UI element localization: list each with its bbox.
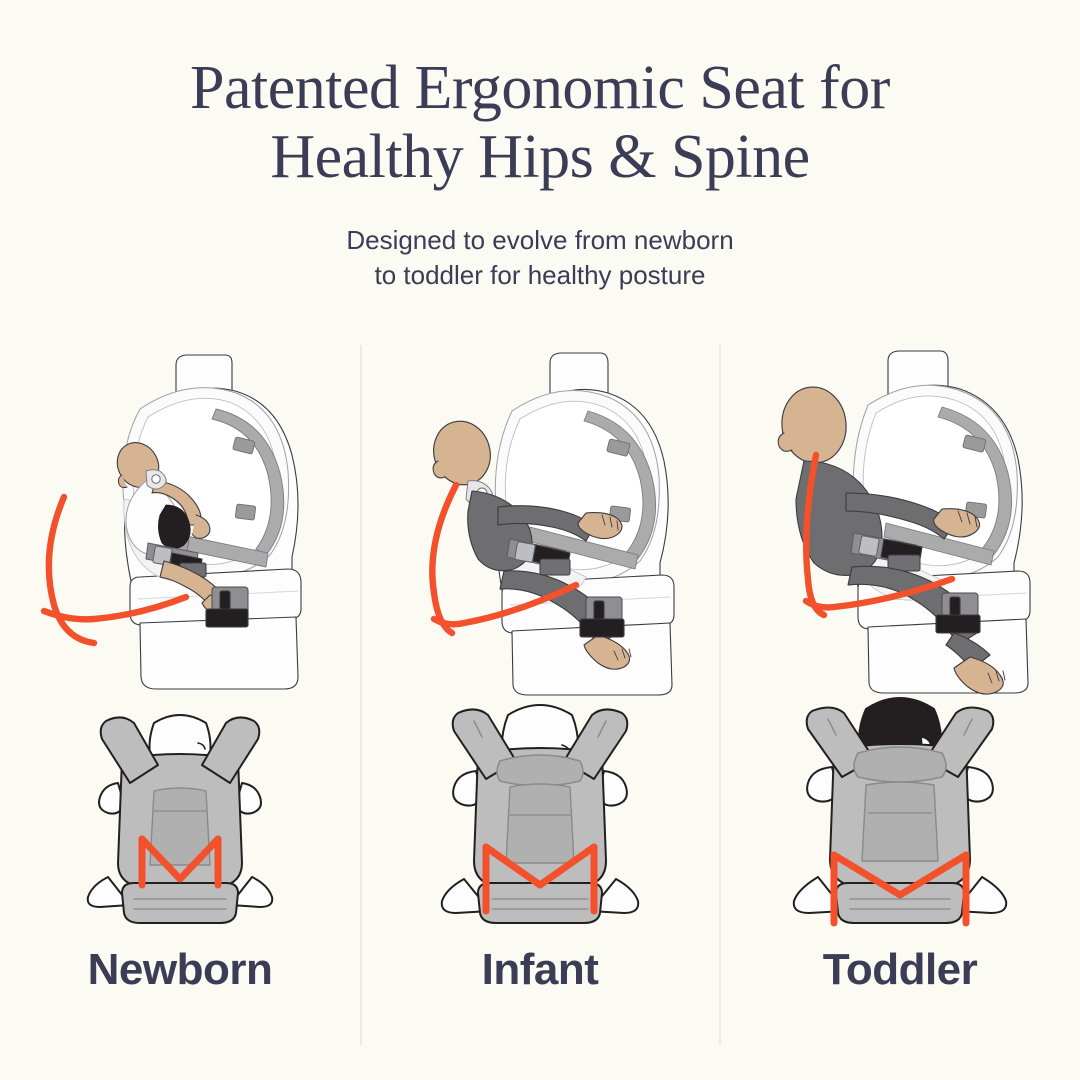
panel-infant: Infant (360, 345, 720, 1045)
toddler-side-view-illustration (740, 347, 1060, 697)
stage-label-infant: Infant (482, 945, 599, 995)
infographic-page: Patented Ergonomic Seat for Healthy Hips… (0, 0, 1080, 1080)
panel-toddler: Toddler (720, 345, 1080, 1045)
stage-label-toddler: Toddler (823, 945, 978, 995)
title-line-2: Healthy Hips & Spine (0, 123, 1080, 192)
subtitle-line-1: Designed to evolve from newborn (346, 225, 733, 255)
panel-newborn: Newborn (0, 345, 360, 1045)
stage-panels: Newborn (0, 345, 1080, 1045)
stage-label-newborn: Newborn (88, 945, 273, 995)
header: Patented Ergonomic Seat for Healthy Hips… (0, 0, 1080, 293)
subtitle-line-2: to toddler for healthy posture (0, 258, 1080, 293)
page-subtitle: Designed to evolve from newborn to toddl… (0, 193, 1080, 293)
toddler-front-view-illustration (750, 687, 1050, 937)
page-title: Patented Ergonomic Seat for Healthy Hips… (0, 0, 1080, 193)
infant-front-view-illustration (390, 687, 690, 937)
newborn-side-view-illustration (20, 347, 340, 697)
title-line-1: Patented Ergonomic Seat for (190, 54, 890, 122)
infant-side-view-illustration (380, 347, 700, 697)
newborn-front-view-illustration (30, 687, 330, 937)
